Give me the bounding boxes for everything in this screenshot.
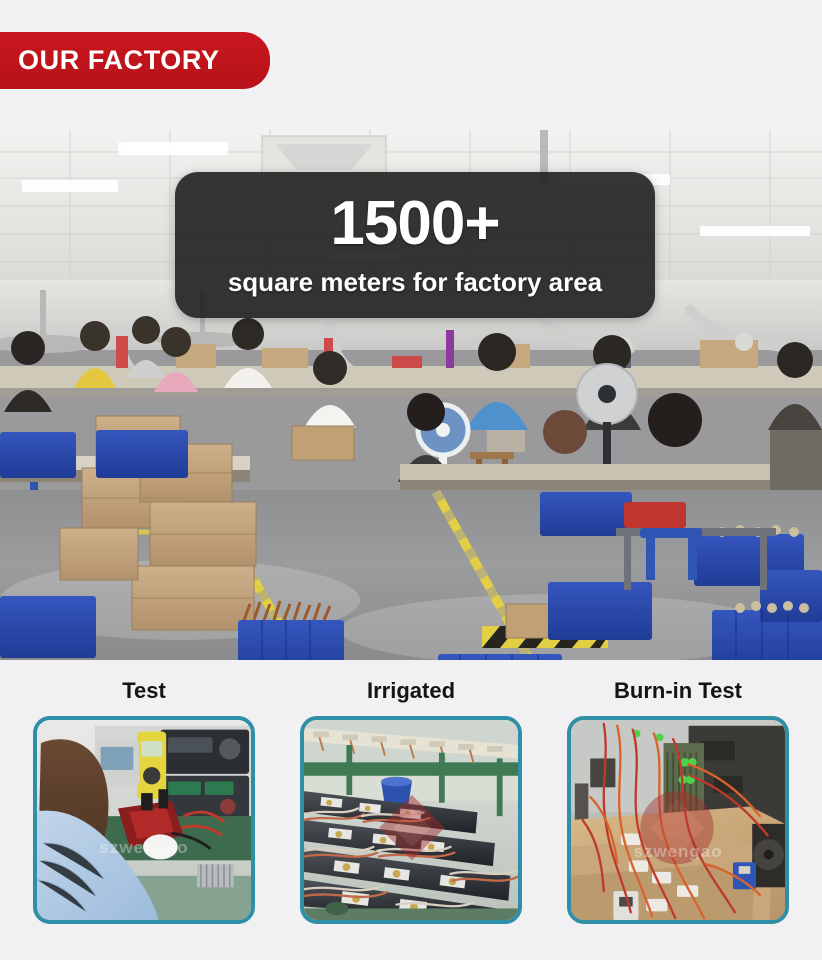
stat-number: 1500+: [330, 193, 499, 255]
gallery-item-burn-in-test: Burn-in Test: [567, 680, 789, 960]
section-ribbon: OUR FACTORY: [0, 32, 270, 89]
gallery-item-test: Test: [33, 680, 255, 960]
gallery-item-irrigated: Irrigated: [300, 680, 522, 960]
stat-caption: square meters for factory area: [228, 267, 602, 298]
gallery-caption-irrigated: Irrigated: [367, 680, 455, 702]
factory-area-stat-overlay: 1500+ square meters for factory area: [175, 172, 655, 318]
gallery-caption-burn-in-test: Burn-in Test: [614, 680, 742, 702]
irrigated-photo-illustration: [304, 720, 518, 920]
header-zone: OUR FACTORY: [0, 0, 822, 130]
gallery-caption-test: Test: [122, 680, 166, 702]
photo-card-burn-in-test[interactable]: szwengao: [567, 716, 789, 924]
process-gallery: Test: [0, 660, 822, 960]
photo-card-irrigated[interactable]: [300, 716, 522, 924]
section-title: OUR FACTORY: [0, 45, 220, 76]
factory-hero-image: 1500+ square meters for factory area: [0, 130, 822, 660]
test-photo-illustration: [37, 720, 251, 920]
photo-card-test[interactable]: szwengao: [33, 716, 255, 924]
burn-in-photo-illustration: [571, 720, 785, 920]
